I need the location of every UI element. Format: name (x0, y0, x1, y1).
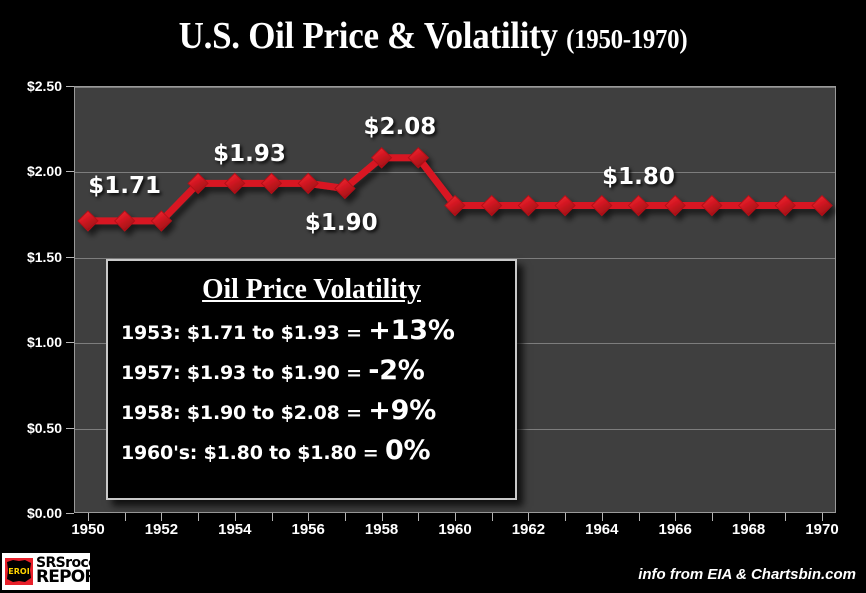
volatility-row-percent: +9% (368, 395, 436, 426)
x-axis-tick (161, 513, 162, 521)
x-axis-tick-label: 1954 (200, 521, 270, 538)
x-axis-tick (345, 513, 346, 521)
x-axis-tick (272, 513, 273, 521)
x-axis-tick (235, 513, 236, 521)
y-axis-tick (66, 342, 74, 343)
y-axis-tick (66, 86, 74, 87)
data-point-marker (225, 173, 245, 193)
data-point-marker (739, 196, 759, 216)
volatility-row-percent: -2% (368, 355, 424, 386)
data-point-label: $1.80 (602, 164, 675, 190)
eroi-map-icon: EROI (4, 556, 34, 587)
data-point-marker (629, 196, 649, 216)
x-axis-tick (418, 513, 419, 521)
x-axis-tick (382, 513, 383, 521)
x-axis-tick (198, 513, 199, 521)
data-point-label: $1.93 (213, 141, 286, 167)
data-point-marker (812, 196, 832, 216)
x-axis-tick-label: 1962 (493, 521, 563, 538)
x-axis-tick-label: 1950 (53, 521, 123, 538)
x-axis-tick (125, 513, 126, 521)
x-axis-tick (455, 513, 456, 521)
volatility-row-year: 1953: (121, 322, 187, 344)
x-axis-tick (785, 513, 786, 521)
source-attribution: info from EIA & Chartsbin.com (638, 566, 856, 583)
data-point-marker (702, 196, 722, 216)
y-axis-tick-label: $0.50 (2, 420, 62, 436)
data-point-marker (115, 211, 135, 231)
eroi-label: EROI (8, 567, 29, 576)
x-axis-tick (528, 513, 529, 521)
volatility-row-percent: 0% (385, 435, 430, 466)
data-point-marker (555, 196, 575, 216)
y-axis-tick (66, 257, 74, 258)
logo-wordmark: SRSrocco REPORT (36, 557, 107, 586)
y-axis-tick-label: $1.50 (2, 249, 62, 265)
x-axis-tick-label: 1970 (787, 521, 857, 538)
data-point-marker (298, 173, 318, 193)
x-axis-tick-label: 1952 (126, 521, 196, 538)
x-axis-tick (308, 513, 309, 521)
volatility-row-year: 1958: (121, 402, 187, 424)
x-axis-tick-label: 1960 (420, 521, 490, 538)
data-point-marker (775, 196, 795, 216)
x-axis-tick-label: 1966 (640, 521, 710, 538)
volatility-row: 1958: $1.90 to $2.08 = +9% (121, 395, 515, 426)
page-title: U.S. Oil Price & Volatility (1950-1970) (35, 14, 832, 58)
title-range-text: (1950-1970) (566, 24, 687, 54)
y-axis-tick (66, 171, 74, 172)
y-axis-tick (66, 428, 74, 429)
y-axis-tick-label: $0.00 (2, 505, 62, 521)
y-axis-tick-label: $1.00 (2, 334, 62, 350)
y-axis-tick-label: $2.50 (2, 78, 62, 94)
data-point-label: $1.90 (305, 210, 378, 236)
data-point-marker (482, 196, 502, 216)
volatility-row-text: $1.90 to $2.08 = (187, 402, 368, 424)
x-axis-tick (822, 513, 823, 521)
volatility-heading: Oil Price Volatility (118, 273, 505, 306)
title-main-text: U.S. Oil Price & Volatility (179, 15, 558, 57)
x-axis-tick (712, 513, 713, 521)
data-point-label: $1.71 (88, 173, 161, 199)
x-axis-tick-label: 1958 (347, 521, 417, 538)
x-axis-tick (749, 513, 750, 521)
data-point-marker (262, 173, 282, 193)
data-point-label: $2.08 (364, 114, 437, 140)
volatility-row-text: $1.71 to $1.93 = (187, 322, 368, 344)
volatility-row: 1960's: $1.80 to $1.80 = 0% (121, 435, 515, 466)
volatility-row-text: $1.80 to $1.80 = (204, 442, 385, 464)
x-axis-tick (675, 513, 676, 521)
volatility-row-text: $1.93 to $1.90 = (187, 362, 368, 384)
volatility-row: 1953: $1.71 to $1.93 = +13% (121, 315, 515, 346)
srsrocco-report-logo: EROI SRSrocco REPORT (2, 553, 90, 590)
x-axis-tick (639, 513, 640, 521)
volatility-callout-box: Oil Price Volatility 1953: $1.71 to $1.9… (106, 259, 517, 500)
data-point-marker (592, 196, 612, 216)
x-axis-tick-label: 1968 (714, 521, 784, 538)
volatility-row: 1957: $1.93 to $1.90 = -2% (121, 355, 515, 386)
x-axis-tick (88, 513, 89, 521)
volatility-row-year: 1957: (121, 362, 187, 384)
data-point-marker (665, 196, 685, 216)
x-axis-tick-label: 1956 (273, 521, 343, 538)
x-axis-tick-label: 1964 (567, 521, 637, 538)
y-axis-tick (66, 513, 74, 514)
volatility-rows: 1953: $1.71 to $1.93 = +13%1957: $1.93 t… (108, 315, 515, 466)
logo-line-two: REPORT (36, 570, 107, 586)
volatility-row-percent: +13% (368, 315, 454, 346)
volatility-row-year: 1960's: (121, 442, 204, 464)
x-axis-tick (565, 513, 566, 521)
x-axis-tick (602, 513, 603, 521)
y-axis-tick-label: $2.00 (2, 163, 62, 179)
x-axis-tick (492, 513, 493, 521)
data-point-marker (518, 196, 538, 216)
data-point-marker (78, 211, 98, 231)
